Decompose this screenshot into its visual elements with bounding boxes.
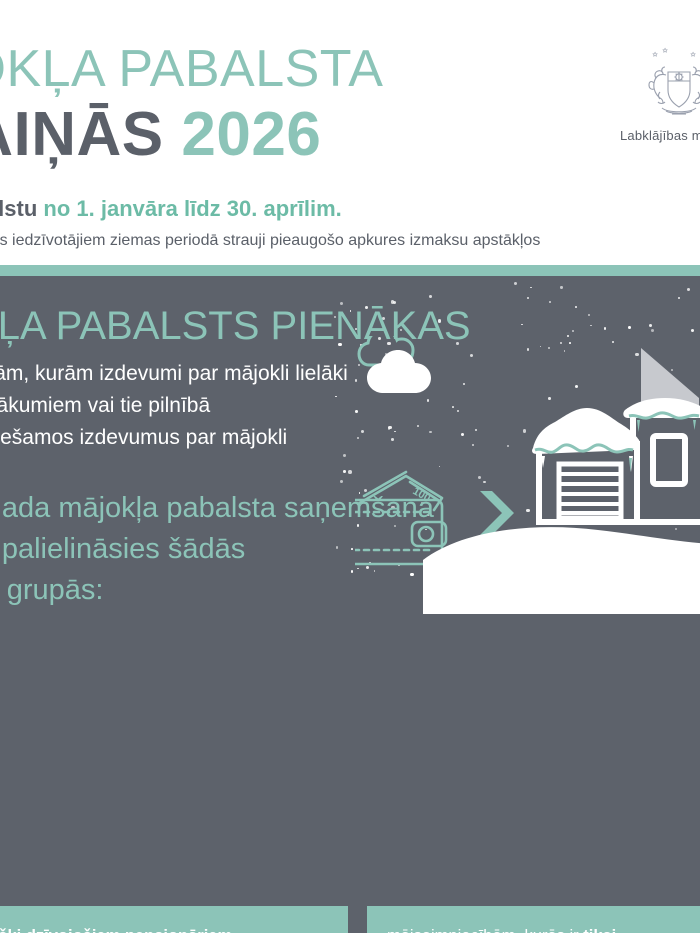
winter-illustration: 100 [355,336,700,626]
lead-paragraph: Izmaiņas tiek veiktas iedzīvotājiem ziem… [0,232,700,250]
snowflake-dot [649,324,653,328]
latvia-coat-of-arms-icon [620,42,700,122]
title-word-izmainas: IZMAIŅĀS [0,100,164,169]
info-box-top-right: mājsaimniecībām, kurās ir tikaipensionār… [367,906,700,933]
snowflake-dot [343,470,346,473]
wallet-with-banknotes-icon: 100 [355,472,446,564]
snowflake-dot [628,326,631,329]
snowflake-dot [549,301,551,303]
info-box-text-run: tikai [583,927,616,933]
snowflake-dot [530,287,532,289]
dark-content-section: MĀJOKĻA PABALSTS PIENĀKAS mājsaimniecībā… [0,276,700,933]
ministry-logo: Labklājības ministrija [620,42,700,143]
snowflake-dot [343,454,346,457]
snowflake-dot [527,297,529,299]
snow-cloud-icon [359,336,431,393]
info-box-top-left: vienatnē/atsevišķi dzīvojošiem pensionār… [0,906,348,933]
snow-covered-house-icon [423,348,700,614]
svg-text:100: 100 [411,485,433,505]
snowflake-dot [560,286,562,288]
title-year: 2026 [181,100,321,169]
snowflake-dot [340,480,343,483]
subtitle: Mājokļa pabalstu no 1. janvāra līdz 30. … [0,196,660,222]
snowflake-dot [678,297,680,299]
logo-caption: Labklājības ministrija [620,128,700,143]
info-box-line: vienatnē/atsevišķi dzīvojošiem pensionār… [0,924,332,933]
info-box-line: mājsaimniecībām, kurās ir tikai [387,924,700,933]
page-title: MĀJOKĻA PABALSTA IZMAIŅĀS 2026 [0,40,620,168]
subtitle-accent-part: no 1. janvāra līdz 30. aprīlim. [43,196,341,221]
info-box-text-run: mājsaimniecībām, kurās ir [387,927,583,933]
chevron-right-icon [480,491,514,535]
snowflake-dot [687,288,690,291]
snowflake-dot [514,282,517,285]
info-box-text-run: vienatnē/atsevišķi dzīvojošiem pensionār… [0,927,232,933]
subtitle-gray-part: Mājokļa pabalstu [0,196,37,221]
title-line-1: MĀJOKĻA PABALSTA [0,40,620,98]
title-line-2: IZMAIŅĀS 2026 [0,102,620,168]
teal-divider [0,265,700,276]
header-section: MĀJOKĻA PABALSTA IZMAIŅĀS 2026 Mājokļa p… [0,0,700,265]
snowflake-dot [651,329,654,332]
snowflake-dot [429,295,432,298]
snowflake-dot [348,470,352,474]
snowflake-dot [691,329,694,332]
